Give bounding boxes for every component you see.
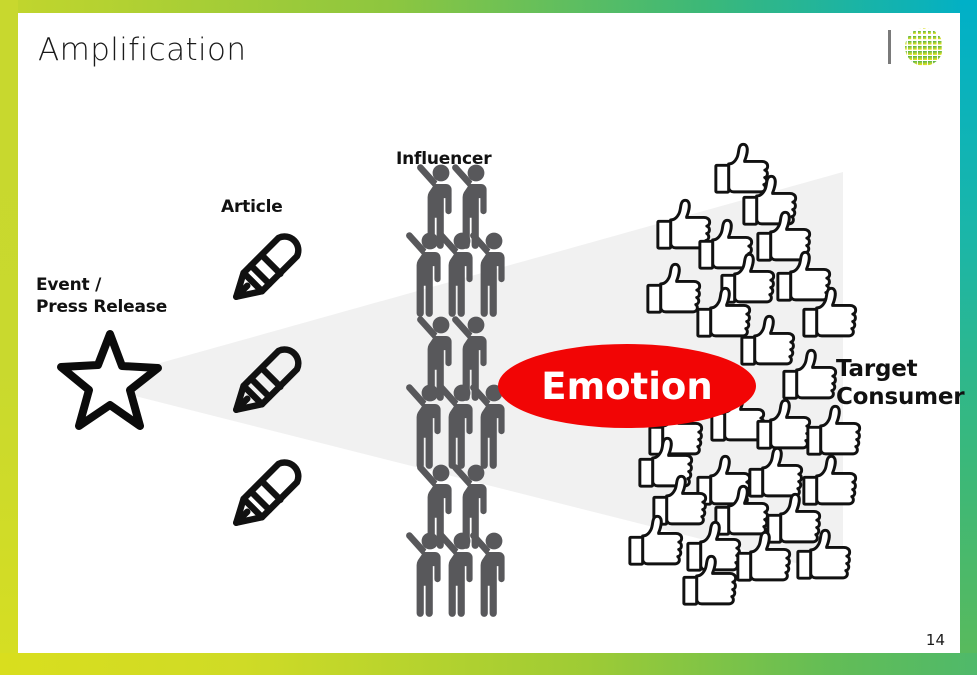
amplification-diagram: Emotion Event / Press Release Article In… bbox=[18, 13, 960, 653]
thumbs-up-icon bbox=[716, 144, 768, 192]
bottom-border-gradient bbox=[0, 653, 977, 675]
label-influencer: Influencer bbox=[396, 149, 491, 171]
label-article: Article bbox=[221, 197, 283, 219]
label-target-consumer: Target Consumer bbox=[836, 355, 964, 411]
slide: Amplification bbox=[0, 0, 977, 675]
left-border-gradient bbox=[0, 0, 18, 675]
page-number: 14 bbox=[926, 631, 945, 649]
diagram-canvas bbox=[18, 13, 960, 653]
star-icon bbox=[61, 334, 158, 426]
emotion-label: Emotion bbox=[498, 365, 756, 408]
pencil-icon bbox=[236, 237, 298, 297]
emotion-callout: Emotion bbox=[498, 344, 756, 428]
top-border-gradient bbox=[0, 0, 977, 13]
person-raised-arm-icon bbox=[406, 532, 441, 617]
right-border-gradient bbox=[960, 0, 977, 675]
pencil-icon bbox=[236, 463, 298, 523]
label-event-press-release: Event / Press Release bbox=[36, 275, 167, 319]
